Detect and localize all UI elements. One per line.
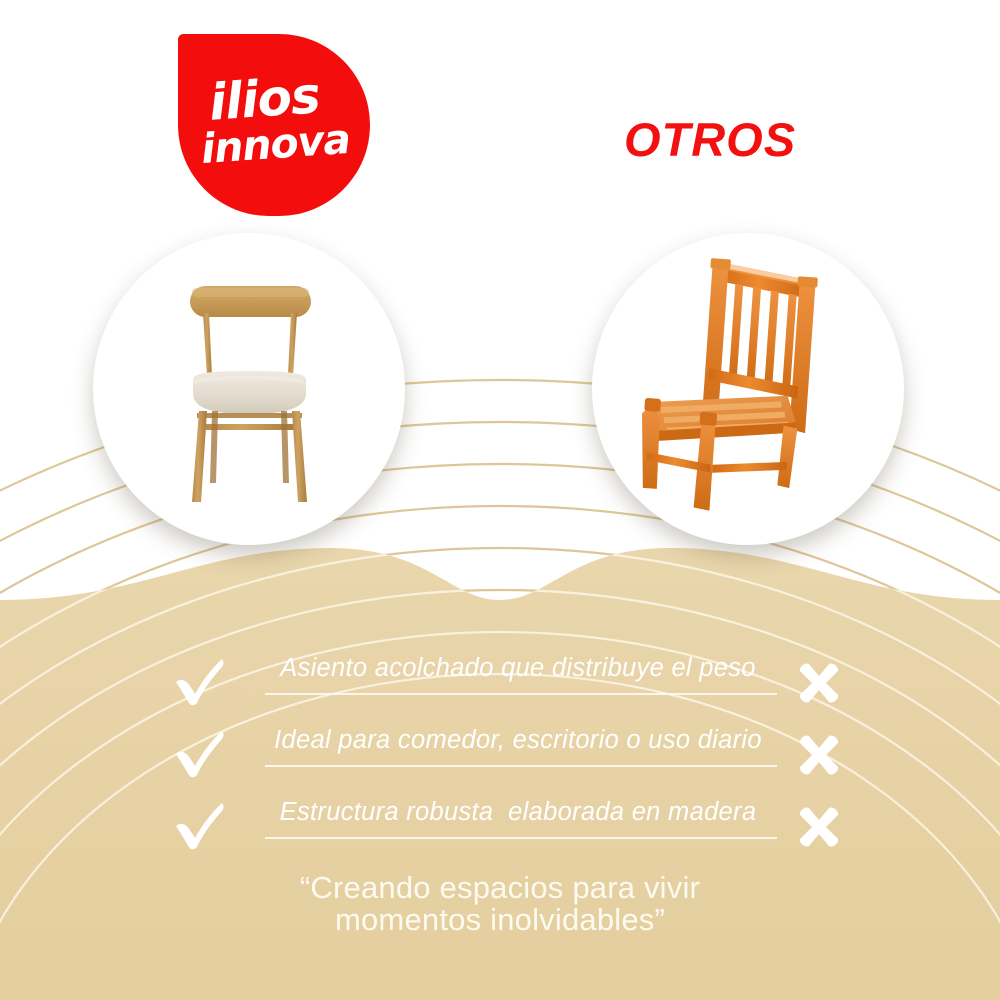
product-photo-ilios	[93, 233, 405, 545]
feature-label: Estructura robusta elaborada en madera	[248, 798, 788, 827]
competitor-heading: OTROS	[560, 112, 860, 167]
tagline-line-1: “Creando espacios para vivir	[300, 870, 700, 905]
feature-row: Estructura robusta elaborada en madera	[0, 792, 1000, 864]
tagline: “Creando espacios para vivir momentos in…	[0, 872, 1000, 936]
feature-label: Asiento acolchado que distribuye el peso	[248, 654, 788, 683]
logo-wordmark: ilios innova	[197, 68, 347, 188]
feature-underline	[265, 837, 777, 839]
product-photo-otros	[592, 233, 904, 545]
comparison-infographic: ilios innova OTROS	[0, 0, 1000, 1000]
feature-underline	[265, 693, 777, 695]
otros-chair-illustration	[592, 233, 904, 545]
ilios-innova-logo: ilios innova	[178, 34, 370, 216]
feature-label: Ideal para comedor, escritorio o uso dia…	[248, 726, 788, 755]
feature-row: Asiento acolchado que distribuye el peso	[0, 648, 1000, 720]
check-icon	[172, 656, 228, 708]
check-icon	[172, 728, 228, 780]
check-icon	[172, 800, 228, 852]
cross-icon	[796, 732, 842, 778]
feature-row: Ideal para comedor, escritorio o uso dia…	[0, 720, 1000, 792]
feature-comparison-list: Asiento acolchado que distribuye el peso…	[0, 648, 1000, 864]
cross-icon	[796, 804, 842, 850]
tagline-line-2: momentos inolvidables”	[0, 904, 1000, 936]
cross-icon	[796, 660, 842, 706]
ilios-chair-illustration	[93, 233, 405, 545]
logo-text-innova: innova	[200, 119, 351, 170]
feature-underline	[265, 765, 777, 767]
